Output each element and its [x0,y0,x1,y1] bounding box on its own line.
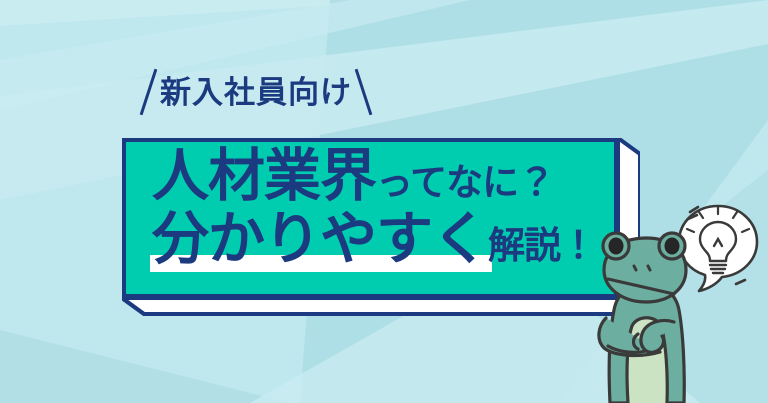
title-line-2-highlight-wrap: 分かりやすく [152,211,488,268]
title-line-2-emphasis: 分かりやすく [152,207,488,271]
bubble-tick-3 [736,280,745,284]
title-box-side-bottom [122,298,640,314]
frog-nostril-left [634,266,636,270]
thinking-frog-character [588,222,708,403]
title-line-2-tail: 解説！ [488,227,596,264]
title-line-1-tail: ってなに？ [376,164,554,201]
eyecatch-canvas: 新入社員向け 人材業界 ってなに？ 分かりやすく [0,0,768,403]
frog-eye-right [665,238,680,255]
title-text-group: 人材業界 ってなに？ 分かりやすく 解説！ [122,138,618,298]
frog-eye-left [609,238,624,255]
title-box: 人材業界 ってなに？ 分かりやすく 解説！ [122,138,640,320]
title-line-1: 人材業界 ってなに？ [152,148,618,205]
frog-nostril-right [648,266,650,270]
title-line-1-emphasis: 人材業界 [152,148,376,205]
title-line-2: 分かりやすく 解説！ [152,211,618,268]
